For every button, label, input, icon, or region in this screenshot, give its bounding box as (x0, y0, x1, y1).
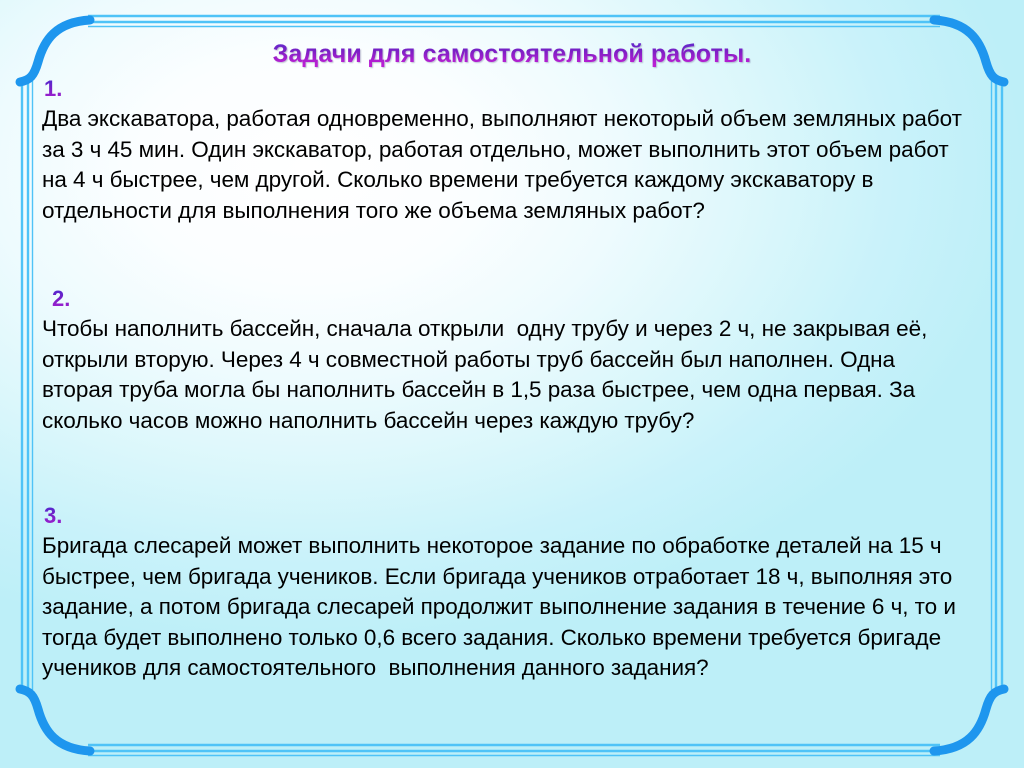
problem-text-3: Бригада слесарей может выполнить некотор… (42, 531, 962, 684)
problem-number-3: 3. (44, 505, 62, 527)
problem-item-2: 2. Чтобы наполнить бассейн, сначала откр… (42, 288, 992, 436)
problem-number-2: 2. (52, 288, 70, 310)
page-title: Задачи для самостоятельной работы. (0, 40, 1024, 69)
problem-item-1: 1. Два экскаватора, работая одновременно… (42, 78, 992, 226)
problem-item-3: 3. Бригада слесарей может выполнить неко… (42, 505, 992, 684)
slide-canvas: Задачи для самостоятельной работы. 1. Дв… (0, 0, 1024, 768)
problem-text-2: Чтобы наполнить бассейн, сначала открыли… (42, 314, 954, 436)
problem-text-1: Два экскаватора, работая одновременно, в… (42, 104, 972, 226)
problem-number-1: 1. (44, 78, 62, 100)
slide-content: Задачи для самостоятельной работы. 1. Дв… (0, 0, 1024, 768)
